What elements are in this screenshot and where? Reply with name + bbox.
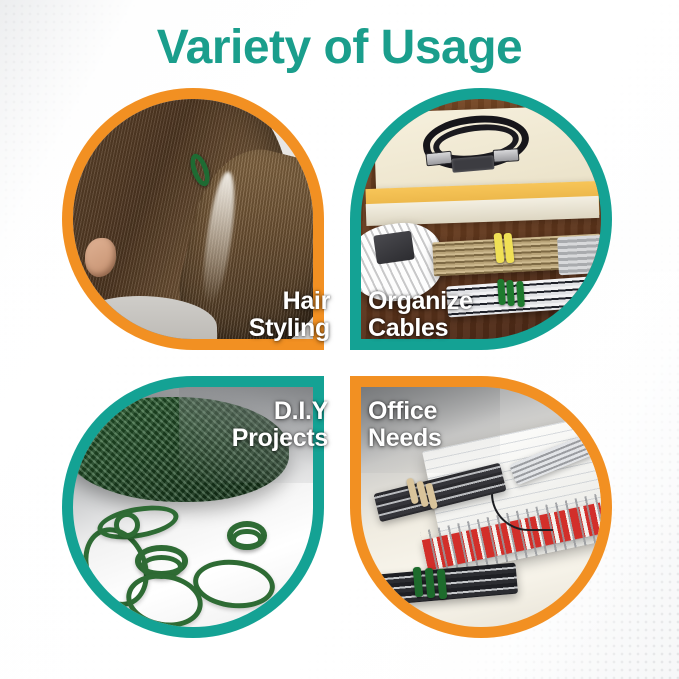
rubber-band-loop-6 [231, 529, 262, 551]
card-label-office-needs: Office Needs [368, 398, 538, 451]
card-label-diy-projects: D.I.Y Projects [150, 398, 328, 451]
usb-connector-right [493, 148, 520, 163]
card-label-hair-styling: Hair Styling [170, 288, 330, 341]
power-adapter-brick [374, 231, 416, 265]
usage-card-grid [0, 0, 679, 679]
pencil-tips [557, 235, 601, 276]
usb-connector-left [425, 150, 452, 166]
page-title: Variety of Usage [0, 24, 679, 72]
card-label-organize-cables: Organize Cables [368, 288, 538, 341]
